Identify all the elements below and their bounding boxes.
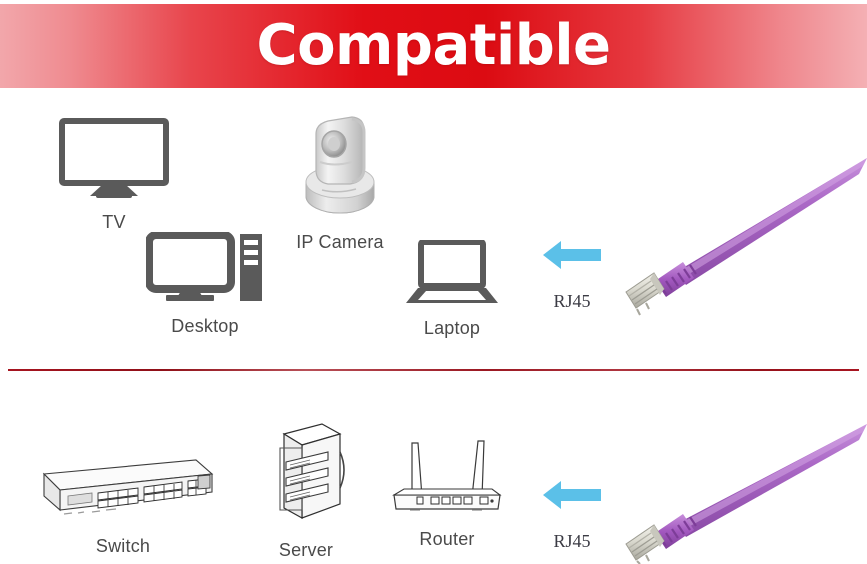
server-rack-icon bbox=[266, 418, 346, 533]
device-desktop: Desktop bbox=[146, 232, 264, 337]
device-label-tv: TV bbox=[102, 212, 125, 233]
device-label-ip-camera: IP Camera bbox=[296, 232, 384, 253]
section-divider bbox=[8, 369, 859, 371]
compatibility-diagram: Compatible TV bbox=[0, 0, 867, 564]
ethernet-cable-bottom bbox=[624, 424, 867, 564]
device-laptop: Laptop bbox=[404, 240, 500, 339]
desktop-computer-icon bbox=[146, 232, 264, 309]
rj45-connector-top: RJ45 bbox=[541, 238, 603, 312]
device-server: Server bbox=[266, 418, 346, 561]
tv-icon bbox=[58, 118, 170, 205]
arrow-left-icon bbox=[541, 478, 603, 517]
device-label-server: Server bbox=[279, 540, 333, 561]
device-label-switch: Switch bbox=[96, 536, 150, 557]
page-title: Compatible bbox=[256, 18, 610, 74]
device-ip-camera: IP Camera bbox=[294, 112, 386, 253]
rj45-connector-bottom: RJ45 bbox=[541, 478, 603, 552]
rj45-label-top: RJ45 bbox=[553, 291, 590, 312]
ip-camera-icon bbox=[294, 112, 386, 225]
rj45-label-bottom: RJ45 bbox=[553, 531, 590, 552]
ethernet-cable-top bbox=[624, 152, 867, 332]
device-label-laptop: Laptop bbox=[424, 318, 480, 339]
device-switch: Switch bbox=[30, 452, 216, 557]
header-banner: Compatible bbox=[0, 4, 867, 88]
device-label-desktop: Desktop bbox=[171, 316, 238, 337]
arrow-left-icon bbox=[541, 238, 603, 277]
network-switch-icon bbox=[30, 452, 216, 529]
device-router: Router bbox=[386, 425, 508, 550]
laptop-icon bbox=[404, 240, 500, 311]
device-tv: TV bbox=[58, 118, 170, 233]
device-label-router: Router bbox=[419, 529, 474, 550]
wifi-router-icon bbox=[386, 425, 508, 522]
